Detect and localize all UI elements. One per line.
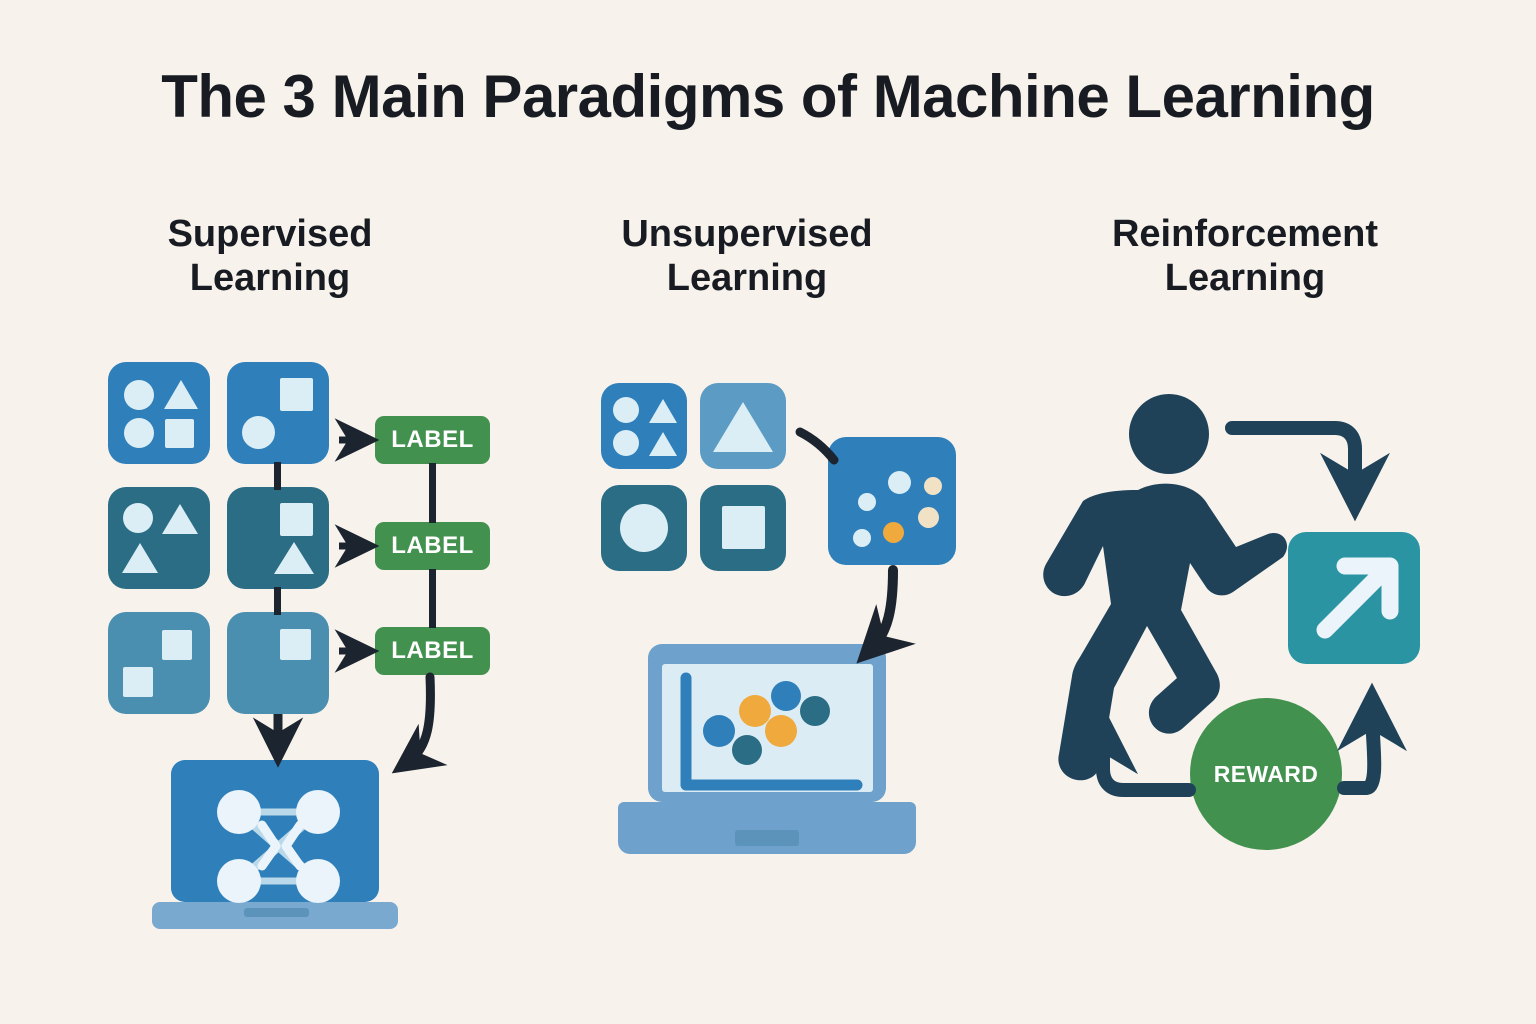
shape-triangle xyxy=(713,402,773,452)
page-title: The 3 Main Paradigms of Machine Learning xyxy=(0,62,1536,131)
shape-circle xyxy=(124,380,154,410)
cluster-tile xyxy=(828,437,956,565)
label-connector xyxy=(429,463,436,523)
data-tile-sup-2 xyxy=(227,362,329,464)
tile-connector xyxy=(274,462,281,490)
shape-circle xyxy=(124,418,154,448)
shape-square xyxy=(280,378,313,411)
shape-square xyxy=(280,503,313,536)
label-chip-3: LABEL xyxy=(375,627,490,675)
shape-square xyxy=(722,506,765,549)
shape-square xyxy=(162,630,192,660)
laptop-trackpad xyxy=(735,830,799,846)
data-tile-uns-4 xyxy=(700,485,786,571)
shape-triangle xyxy=(162,504,198,534)
laptop-trackpad xyxy=(244,908,309,917)
data-tile-uns-3 xyxy=(601,485,687,571)
shape-square xyxy=(123,667,153,697)
heading-line-1: Unsupervised xyxy=(621,213,872,255)
shape-triangle xyxy=(274,542,314,574)
data-tile-sup-1 xyxy=(108,362,210,464)
laptop-base xyxy=(618,802,916,854)
laptop-screen-inner xyxy=(662,664,873,792)
arrow-agent-to-environment xyxy=(1232,428,1355,492)
infographic-canvas: The 3 Main Paradigms of Machine Learning… xyxy=(0,0,1536,1024)
heading-line-2: Learning xyxy=(60,256,480,300)
data-tile-sup-5 xyxy=(108,612,210,714)
shape-triangle xyxy=(649,399,677,423)
shape-circle xyxy=(613,430,639,456)
cluster-dot xyxy=(858,493,876,511)
heading-line-2: Learning xyxy=(537,256,957,300)
arrow-cluster-to-model xyxy=(872,570,893,648)
shape-circle xyxy=(620,504,668,552)
shape-circle xyxy=(242,416,275,449)
cluster-dot xyxy=(918,507,939,528)
column-heading-reinforcement: Reinforcement Learning xyxy=(1035,212,1455,301)
cluster-dot xyxy=(883,522,904,543)
data-tile-sup-4 xyxy=(227,487,329,589)
shape-square xyxy=(165,419,194,448)
column-heading-supervised: Supervised Learning xyxy=(60,212,480,301)
heading-line-2: Learning xyxy=(1035,256,1455,300)
heading-line-1: Reinforcement xyxy=(1112,213,1378,255)
label-connector xyxy=(429,569,436,628)
cluster-dot xyxy=(853,529,871,547)
shape-square xyxy=(280,629,311,660)
column-heading-unsupervised: Unsupervised Learning xyxy=(537,212,957,301)
label-chip-2: LABEL xyxy=(375,522,490,570)
label-chip-1: LABEL xyxy=(375,416,490,464)
arrow-environment-to-reward xyxy=(1344,712,1374,788)
environment-box xyxy=(1288,532,1420,664)
laptop-screen xyxy=(171,760,379,902)
arrow-reward-to-agent xyxy=(1103,735,1189,790)
shape-triangle xyxy=(122,543,158,573)
cluster-dot xyxy=(924,477,942,495)
shape-circle xyxy=(613,397,639,423)
shape-circle xyxy=(123,503,153,533)
data-tile-uns-1 xyxy=(601,383,687,469)
data-tile-sup-6 xyxy=(227,612,329,714)
model-laptop-unsupervised xyxy=(618,640,918,865)
cluster-dot xyxy=(888,471,911,494)
data-tile-uns-2 xyxy=(700,383,786,469)
reward-badge: REWARD xyxy=(1190,698,1342,850)
heading-line-1: Supervised xyxy=(168,213,373,255)
data-tile-sup-3 xyxy=(108,487,210,589)
shape-triangle xyxy=(649,432,677,456)
tile-connector xyxy=(274,587,281,615)
model-laptop-supervised xyxy=(152,760,407,940)
shape-triangle xyxy=(164,380,198,409)
arrow-labels-to-model xyxy=(408,677,430,762)
